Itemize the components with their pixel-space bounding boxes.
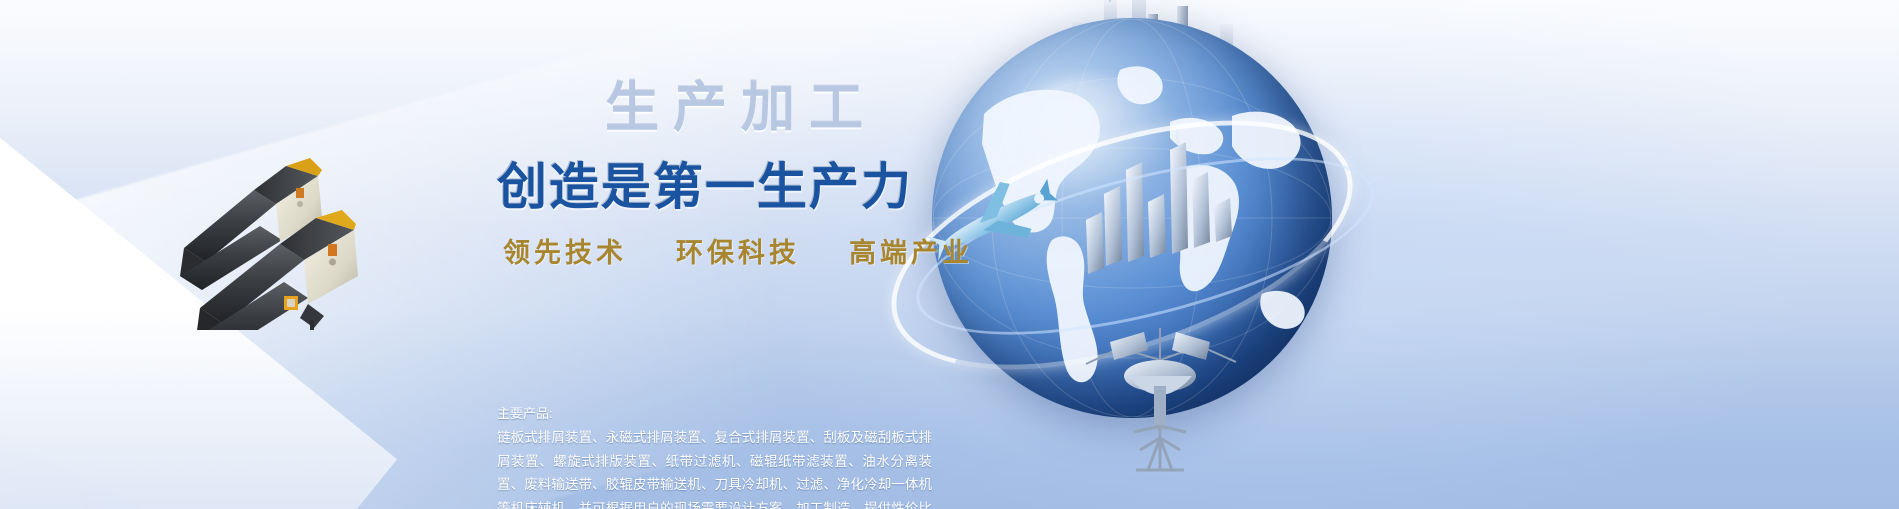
tagline-part-1: 领先技术	[503, 238, 627, 268]
chip-conveyor-machines	[150, 130, 500, 320]
conveyor-svg	[150, 130, 500, 330]
satellite-svg	[1070, 320, 1250, 490]
page-title: 创造是第一生产力	[497, 147, 967, 219]
tagline-part-3: 高端产业	[849, 238, 973, 268]
tagline: 领先技术 环保科技 高端产业	[503, 231, 967, 270]
satellite-icon	[1070, 320, 1240, 480]
description-body: 链板式排屑装置、永磁式排屑装置、复合式排屑装置、刮板及磁刮板式排屑装置、螺旋式排…	[497, 426, 932, 509]
headline-ghost: 生产加工	[605, 80, 967, 137]
banner: 生产加工 创造是第一生产力 领先技术 环保科技 高端产业 主要产品: 链板式排屑…	[0, 0, 1899, 509]
product-description: 主要产品: 链板式排屑装置、永磁式排屑装置、复合式排屑装置、刮板及磁刮板式排屑装…	[497, 404, 932, 509]
description-title: 主要产品:	[497, 404, 932, 424]
globe-graphic	[900, 0, 1520, 509]
headline-group: 生产加工 创造是第一生产力 领先技术 环保科技 高端产业	[497, 80, 967, 270]
tagline-part-2: 环保科技	[676, 238, 800, 268]
